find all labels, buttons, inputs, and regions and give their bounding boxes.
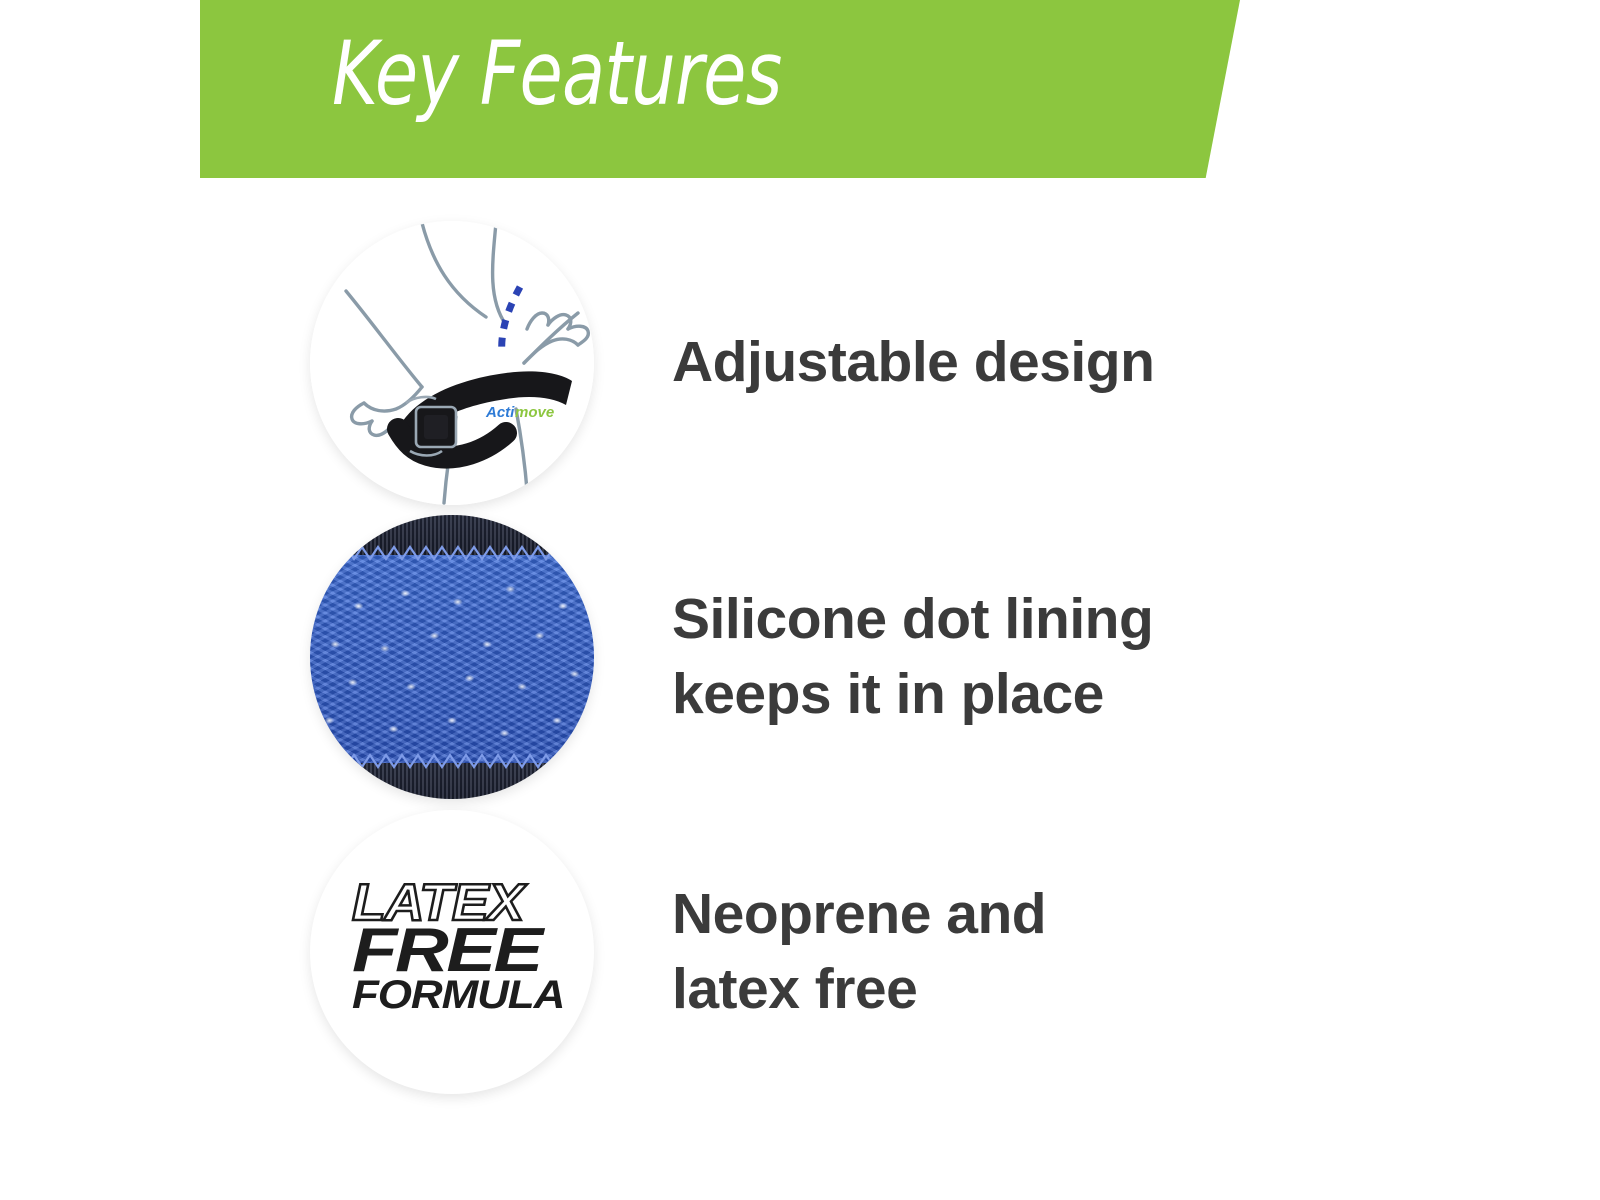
badge-line-formula: FORMULA [352,979,587,1012]
zigzag-stitch-bottom [310,753,594,769]
brand-logo-part1: Acti [485,404,515,421]
knee-strap-fitting-illustration: Acti move [310,221,594,505]
badge-text-block: LATEX FREE FORMULA [352,882,566,1012]
feature-row: LATEX FREE FORMULA Neoprene and latex fr… [310,807,1510,1097]
feature-row: Silicone dot lining keeps it in place [310,512,1510,802]
feature-label-line: latex free [672,952,1046,1027]
fabric-knit-surface [310,551,594,763]
silicone-dot-fabric-photo [310,515,594,799]
zigzag-stitch-top [310,545,594,561]
feature-row: Acti move Adjustable design [310,218,1510,508]
brand-logo-part2: move [515,404,554,421]
feature-label-line: keeps it in place [672,657,1153,732]
latex-free-formula-badge: LATEX FREE FORMULA [310,810,594,1094]
key-features-banner: Key Features [200,0,1240,178]
feature-label: Adjustable design [672,325,1154,400]
knee-strap-line-art: Acti move [310,221,594,505]
page-title: Key Features [332,30,782,118]
feature-label-line: Adjustable design [672,325,1154,400]
feature-label-line: Silicone dot lining [672,582,1153,657]
feature-label: Neoprene and latex free [672,877,1046,1027]
feature-label-line: Neoprene and [672,877,1046,952]
feature-label: Silicone dot lining keeps it in place [672,582,1153,732]
badge-line-free: FREE [352,926,594,977]
